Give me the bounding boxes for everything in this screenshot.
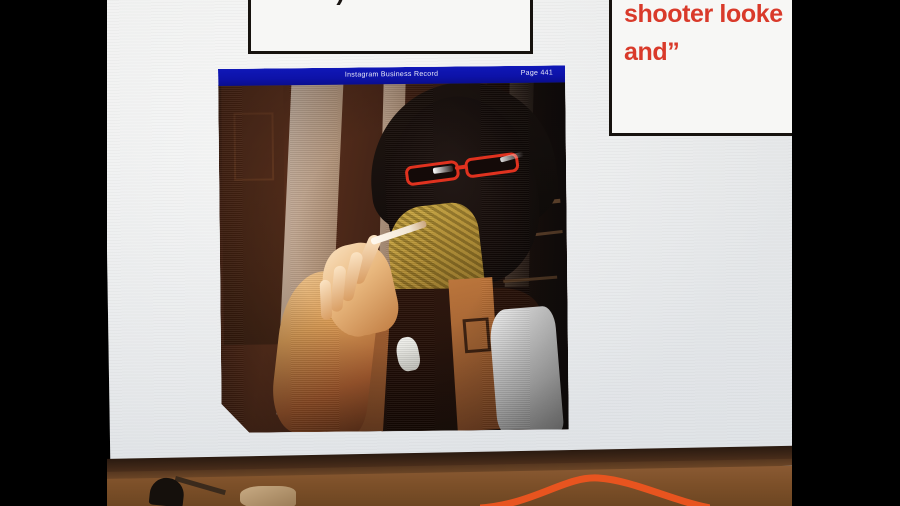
letterbox-bar-left (0, 0, 107, 506)
finger-pinky (320, 280, 333, 320)
exhibit-photo-header: Instagram Business Record Page 441 (218, 65, 565, 86)
left-text-line-2: below). (251, 0, 530, 11)
orange-cable (480, 474, 710, 506)
slide-text-box-left: individual (see below). (248, 0, 533, 54)
sunglass-lens-left (404, 160, 460, 187)
exhibit-photo: Instagram Business Record Page 441 (218, 65, 569, 433)
exhibit-header-page-label: Page 441 (521, 69, 553, 76)
photo-vignette (218, 81, 569, 433)
exhibit-photo-body (218, 81, 569, 433)
screenshot-stage: individual (see below). cops always a ki… (0, 0, 900, 506)
letterbox-bar-right (792, 0, 900, 506)
desk-object-pale (240, 486, 296, 506)
exhibit-header-title: Instagram Business Record (345, 71, 439, 79)
